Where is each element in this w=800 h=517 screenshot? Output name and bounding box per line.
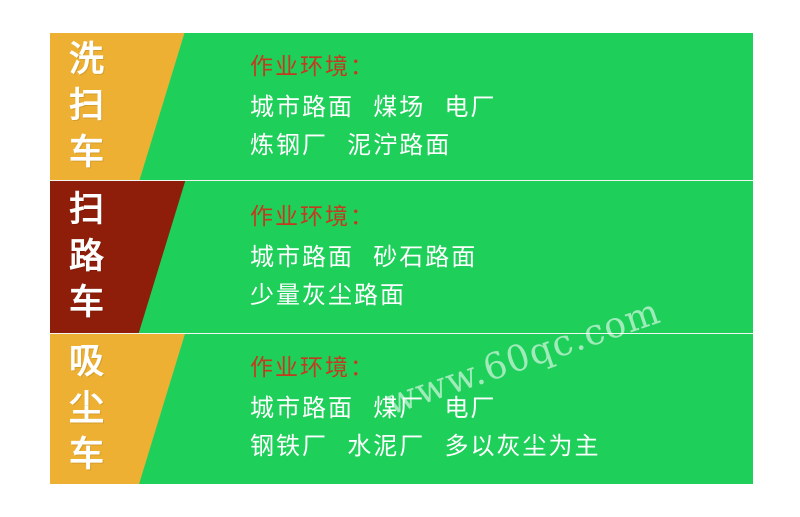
badge-char: 洗 xyxy=(69,37,105,84)
badge-label-road-sweeper: 扫 路 车 xyxy=(50,181,162,333)
heading-operating-environment: 作业环境： xyxy=(250,197,753,231)
environment-line: 少量灰尘路面 xyxy=(250,283,753,307)
environment-line: 城市路面 砂石路面 xyxy=(250,245,753,269)
content-road-sweeper: 作业环境： 城市路面 砂石路面 少量灰尘路面 xyxy=(250,181,753,333)
row-divider xyxy=(50,333,753,334)
info-row-vacuum-truck: 吸 尘 车 作业环境： 城市路面 煤厂 电厂 钢铁厂 水泥厂 多以灰尘为主 xyxy=(50,334,753,484)
badge-char: 扫 xyxy=(69,83,105,130)
environment-line: 钢铁厂 水泥厂 多以灰尘为主 xyxy=(250,434,753,458)
badge-char: 车 xyxy=(69,432,105,479)
badge-char: 尘 xyxy=(69,386,105,433)
badge-label-washing-sweeper: 洗 扫 车 xyxy=(50,33,162,180)
info-row-road-sweeper: 扫 路 车 作业环境： 城市路面 砂石路面 少量灰尘路面 xyxy=(50,181,753,333)
info-row-washing-sweeper: 洗 扫 车 作业环境： 城市路面 煤场 电厂 炼钢厂 泥泞路面 xyxy=(50,33,753,180)
environment-line: 炼钢厂 泥泞路面 xyxy=(250,133,753,157)
environment-line: 城市路面 煤场 电厂 xyxy=(250,95,753,119)
badge-label-vacuum-truck: 吸 尘 车 xyxy=(50,334,162,484)
environment-line: 城市路面 煤厂 电厂 xyxy=(250,396,753,420)
heading-operating-environment: 作业环境： xyxy=(250,348,753,382)
content-vacuum-truck: 作业环境： 城市路面 煤厂 电厂 钢铁厂 水泥厂 多以灰尘为主 xyxy=(250,334,753,484)
vehicle-comparison-infographic: 洗 扫 车 作业环境： 城市路面 煤场 电厂 炼钢厂 泥泞路面 扫 路 车 作业… xyxy=(50,33,753,484)
badge-road-sweeper: 扫 路 车 xyxy=(50,181,185,333)
content-washing-sweeper: 作业环境： 城市路面 煤场 电厂 炼钢厂 泥泞路面 xyxy=(250,33,753,180)
badge-char: 路 xyxy=(69,234,105,281)
badge-char: 扫 xyxy=(69,187,105,234)
row-divider xyxy=(50,180,753,181)
badge-vacuum-truck: 吸 尘 车 xyxy=(50,334,185,484)
badge-washing-sweeper: 洗 扫 车 xyxy=(50,33,184,180)
badge-char: 吸 xyxy=(69,339,105,386)
heading-operating-environment: 作业环境： xyxy=(250,47,753,81)
badge-char: 车 xyxy=(69,280,105,327)
badge-char: 车 xyxy=(69,130,105,177)
